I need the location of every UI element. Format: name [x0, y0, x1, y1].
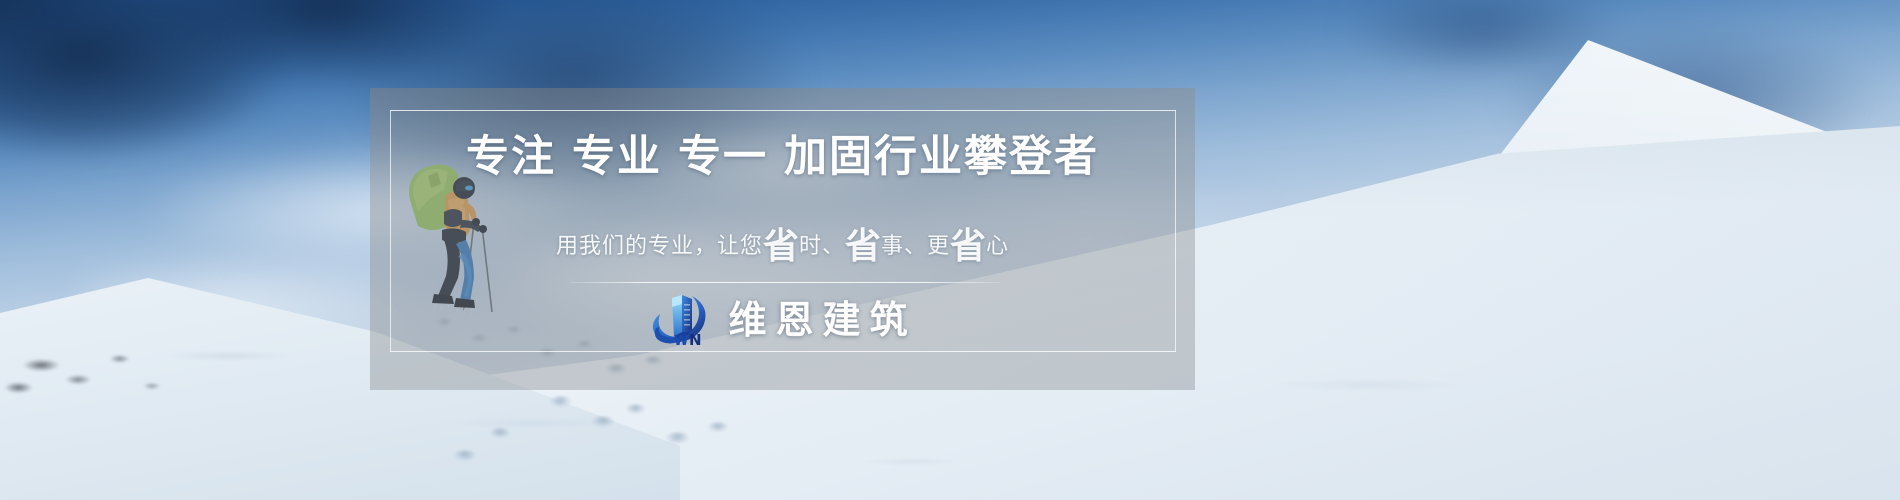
wn-logo-svg: W N	[648, 292, 714, 348]
banner-subtitle: 用我们的专业，让您省时、省事、更省心	[370, 228, 1195, 262]
section-divider	[570, 282, 1000, 283]
subtitle-emphasis-1: 省	[763, 226, 799, 267]
headline-word-1: 专注	[466, 132, 556, 182]
wn-logo-icon: W N	[648, 292, 714, 348]
subtitle-lead: 用我们的专业，让您	[556, 234, 763, 259]
subtitle-emphasis-2: 省	[845, 226, 881, 267]
brand-lockup: W N 维恩建筑	[370, 292, 1195, 348]
frame-border-bottom	[390, 351, 1176, 352]
headline-word-4: 加固行业攀登者	[784, 132, 1099, 182]
hero-banner: 专注专业专一加固行业攀登者 用我们的专业，让您省时、省事、更省心	[0, 0, 1900, 500]
subtitle-tail-1: 时、	[799, 234, 845, 259]
subtitle-tail-3: 心	[986, 234, 1009, 259]
headline-word-3: 专一	[678, 132, 768, 182]
frame-border-top	[390, 110, 1176, 111]
svg-text:W: W	[674, 334, 689, 348]
brand-name: 维恩建筑	[728, 301, 916, 339]
subtitle-emphasis-3: 省	[950, 226, 986, 267]
svg-text:N: N	[689, 331, 702, 348]
subtitle-tail-2: 事、更	[881, 234, 950, 259]
headline-word-2: 专业	[572, 132, 662, 182]
banner-headline: 专注专业专一加固行业攀登者	[370, 122, 1195, 184]
